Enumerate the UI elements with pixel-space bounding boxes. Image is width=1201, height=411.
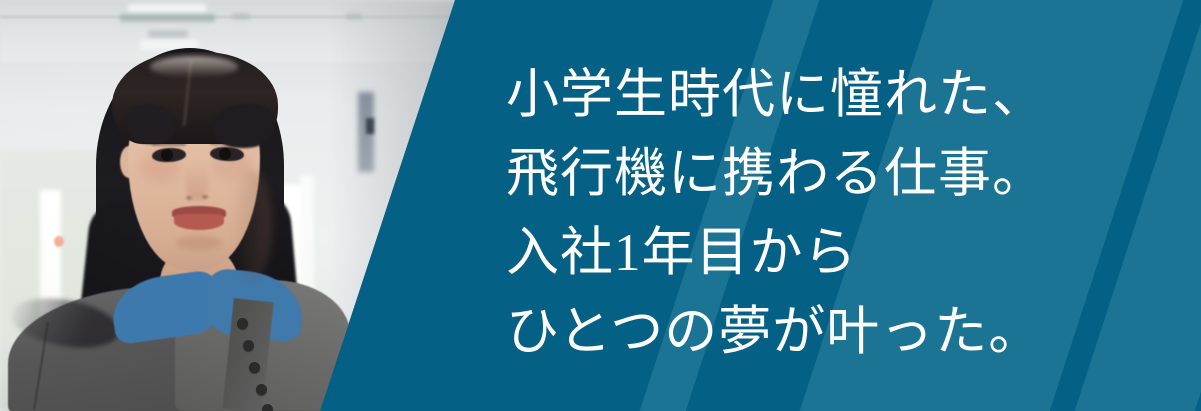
jaw-shadow [232,170,272,280]
nose [186,160,208,200]
lower-lip [174,214,224,230]
chin-shadow [176,236,222,250]
pupil-right [219,148,231,160]
cardigan-button [249,362,260,373]
headline-line-1: 小学生時代に憧れた、 [506,56,1106,135]
headline-line-3: 入社1年目から [506,214,1106,293]
cardigan-button [256,384,267,395]
nostril-left [186,196,192,200]
headline-line-2: 飛行機に携わる仕事。 [506,135,1106,214]
pupil-left [161,149,173,161]
nostril-right [202,195,208,199]
hero-headline: 小学生時代に憧れた、 飛行機に携わる仕事。 入社1年目から ひとつの夢が叶った。 [506,56,1106,372]
cardigan-button [237,318,248,329]
hair-highlight [150,56,238,78]
hero-banner: 小学生時代に憧れた、 飛行機に携わる仕事。 入社1年目から ひとつの夢が叶った。 [0,0,1201,411]
bangs-tip-left [126,104,176,144]
bangs-tip-right [212,104,274,148]
cardigan-button [262,404,273,411]
headline-line-4: ひとつの夢が叶った。 [506,293,1106,372]
cardigan-button [243,340,254,351]
